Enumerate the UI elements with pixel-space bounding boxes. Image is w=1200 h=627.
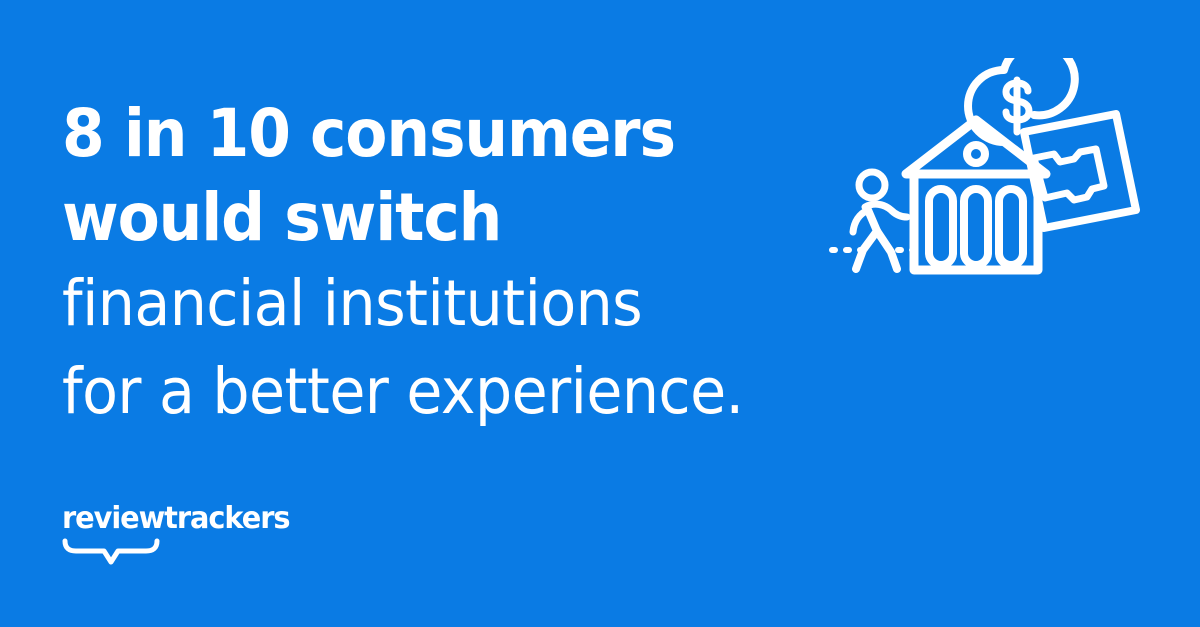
walking-person-icon [853,172,907,269]
social-card: 8 in 10 consumers would switch financial… [0,0,1200,627]
reviewtrackers-logo: reviewtrackers [62,502,292,572]
headline-bold-line-1: 8 in 10 consumers [62,92,899,176]
headline-bold-line-2: would switch [62,176,899,260]
headline-block: 8 in 10 consumers would switch financial… [62,92,962,436]
headline-light-line-2: for a better experience. [62,348,899,436]
speech-bubble-underline-icon [62,538,162,566]
consumer-switching-banks-illustration [828,58,1140,278]
headline-light-line-1: financial institutions [62,260,899,348]
logo-wordmark: reviewtrackers [62,502,283,536]
